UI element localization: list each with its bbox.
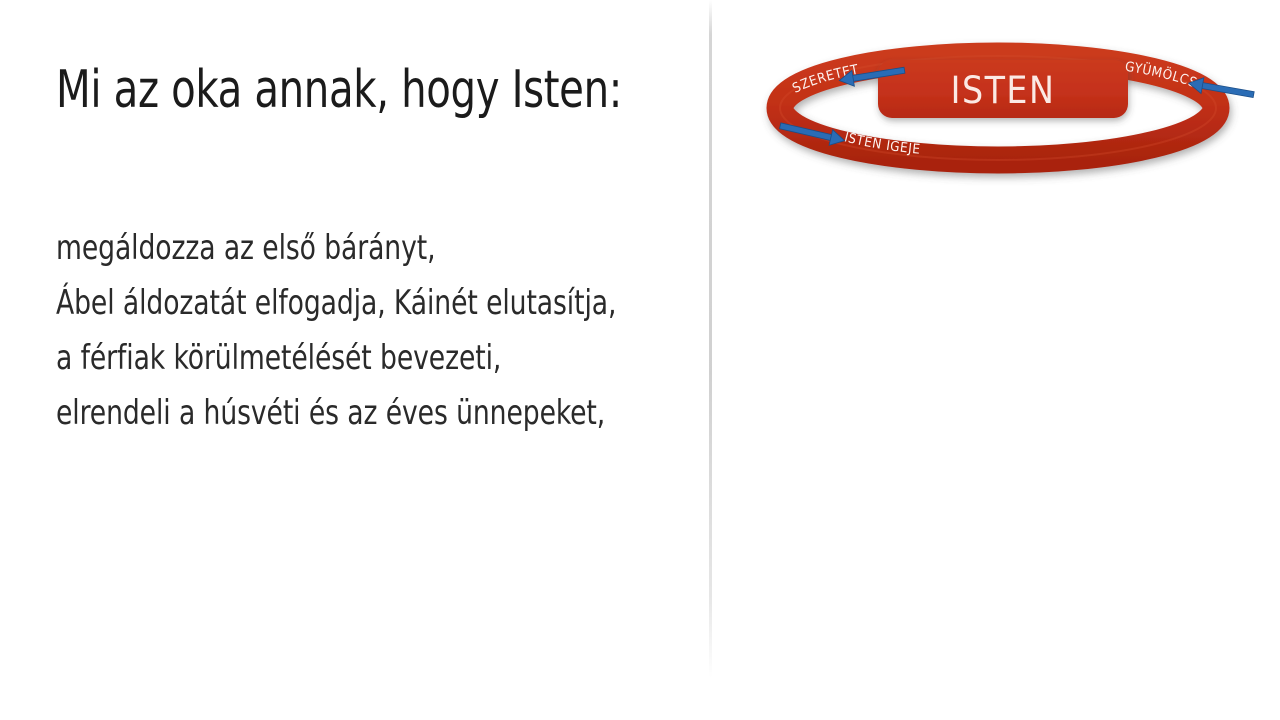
body-text-block: megáldozza az első bárányt, Ábel áldozat… [56, 221, 696, 441]
slide-canvas: Mi az oka annak, hogy Isten: megáldozza … [0, 0, 1280, 720]
body-line-4: elrendeli a húsvéti és az éves ünnepeket… [56, 386, 613, 441]
isten-node[interactable]: ISTEN [878, 60, 1128, 118]
isten-label: ISTEN [951, 69, 1056, 112]
diagram-pane: ISTEN SZERETET [712, 0, 1280, 720]
text-content-pane: Mi az oka annak, hogy Isten: megáldozza … [0, 0, 709, 720]
body-line-1: megáldozza az első bárányt, [56, 221, 613, 276]
body-line-3: a férfiak körülmetélését bevezeti, [56, 331, 613, 386]
body-line-2: Ábel áldozatát elfogadja, Káinét elutasí… [56, 276, 613, 331]
cycle-diagram: ISTEN SZERETET [720, 10, 1280, 190]
page-title: Mi az oka annak, hogy Isten: [56, 63, 598, 118]
